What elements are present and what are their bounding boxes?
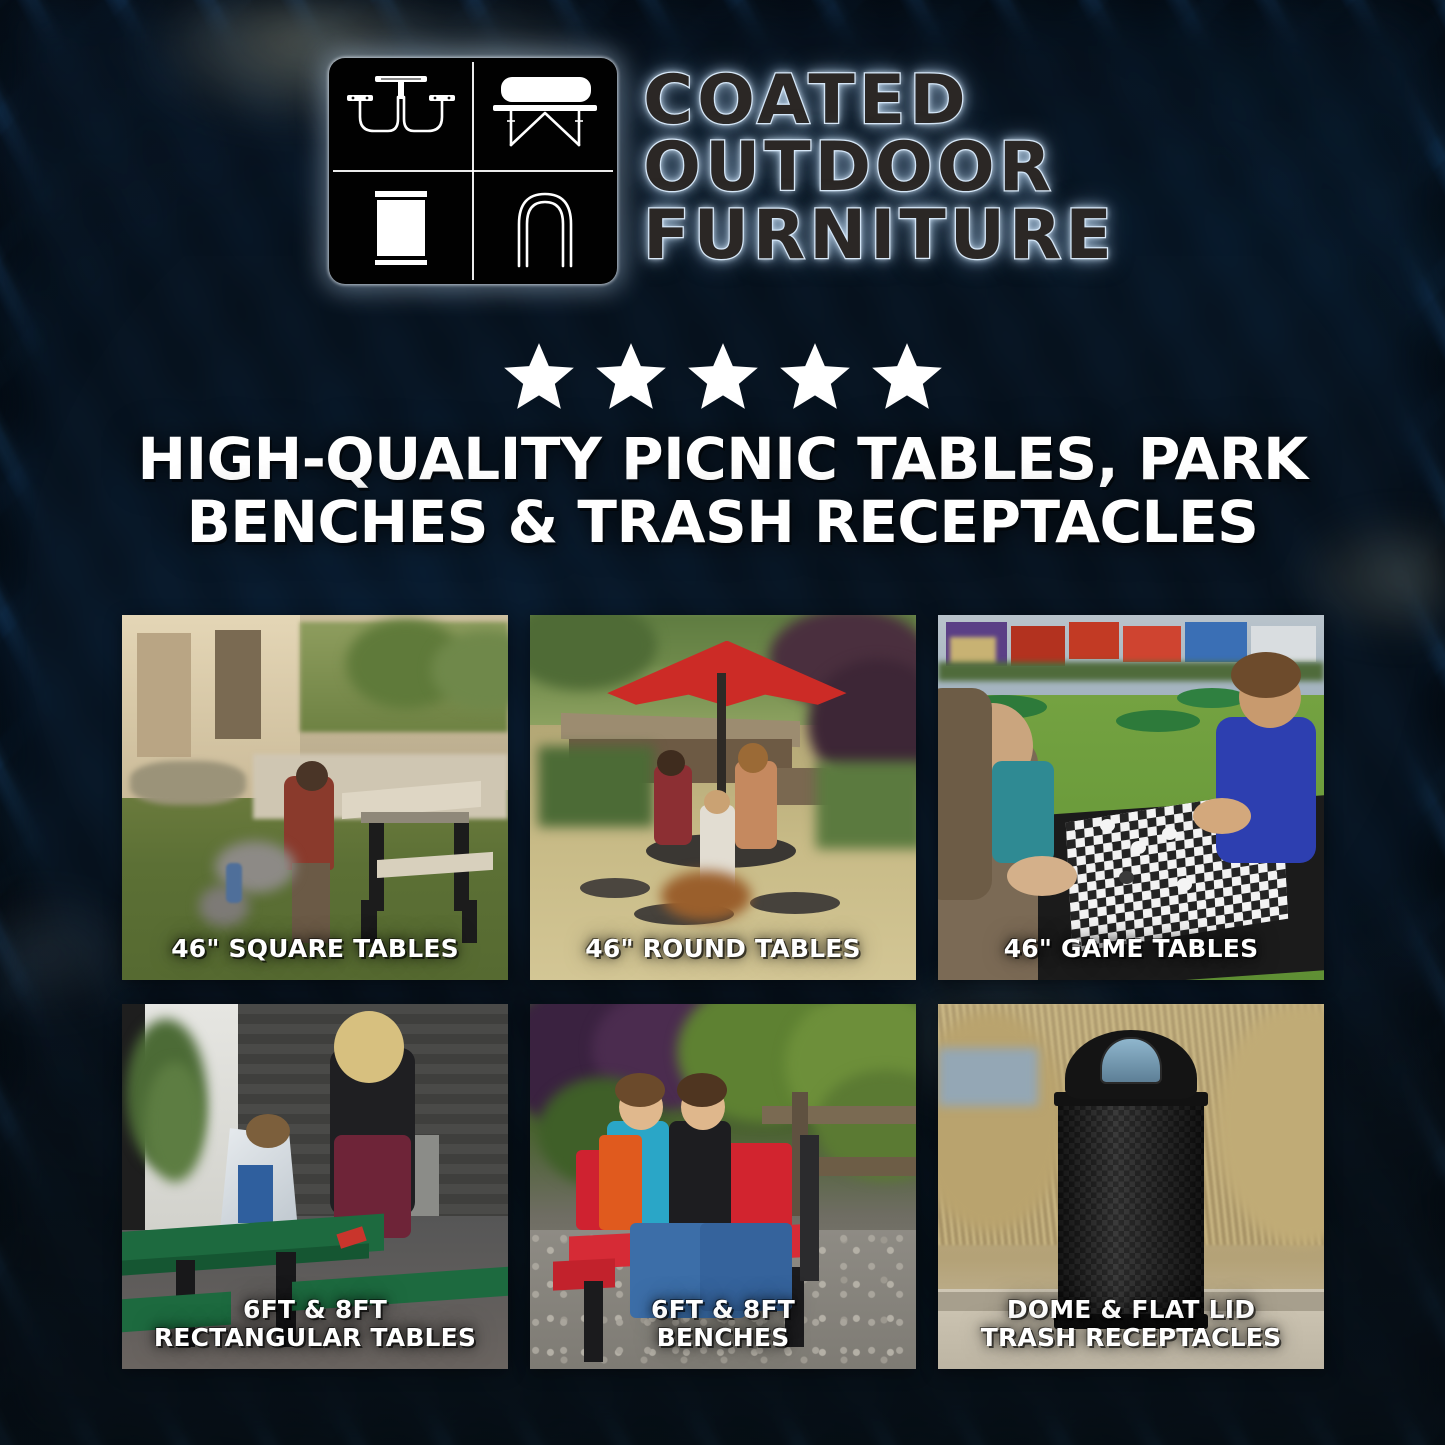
product-caption: DOME & FLAT LID TRASH RECEPTACLES — [938, 1296, 1324, 1351]
star-icon — [500, 338, 578, 414]
brand-name-line-2: OUTDOOR — [643, 135, 1116, 200]
product-card-round-tables[interactable]: 46" ROUND TABLES — [530, 615, 916, 980]
product-caption-line-2: RECTANGULAR TABLES — [130, 1324, 500, 1352]
product-card-benches[interactable]: 6FT & 8FT BENCHES — [530, 1004, 916, 1369]
product-caption-line-1: 6FT & 8FT — [243, 1295, 387, 1324]
brand-logo: COATED OUTDOOR FURNITURE — [0, 58, 1445, 284]
product-caption-line-1: 46" ROUND TABLES — [585, 934, 860, 963]
brand-name-line-1: COATED — [643, 68, 1116, 133]
star-icon — [592, 338, 670, 414]
product-caption: 46" ROUND TABLES — [530, 935, 916, 963]
brand-name-line-3: FURNITURE — [643, 203, 1116, 268]
star-icon — [868, 338, 946, 414]
product-caption: 6FT & 8FT RECTANGULAR TABLES — [122, 1296, 508, 1351]
headline-line-2: BENCHES & TRASH RECEPTACLES — [70, 491, 1375, 554]
product-caption-line-1: 46" GAME TABLES — [1004, 934, 1259, 963]
product-caption-line-1: 46" SQUARE TABLES — [171, 934, 459, 963]
headline-line-1: HIGH-QUALITY PICNIC TABLES, PARK — [70, 428, 1375, 491]
logo-mark-icon — [329, 58, 617, 284]
product-card-rectangular-tables[interactable]: 6FT & 8FT RECTANGULAR TABLES — [122, 1004, 508, 1369]
headline: HIGH-QUALITY PICNIC TABLES, PARK BENCHES… — [0, 428, 1445, 553]
picnic-table-icon — [329, 58, 473, 171]
product-photo-square-tables — [122, 615, 508, 980]
brand-wordmark: COATED OUTDOOR FURNITURE — [643, 68, 1116, 274]
product-card-trash-receptacles[interactable]: DOME & FLAT LID TRASH RECEPTACLES — [938, 1004, 1324, 1369]
bike-rack-arch-icon — [473, 171, 617, 284]
trash-receptacle-icon — [329, 171, 473, 284]
star-rating — [0, 338, 1445, 414]
product-caption-line-1: 6FT & 8FT — [651, 1295, 795, 1324]
product-caption: 46" SQUARE TABLES — [122, 935, 508, 963]
bench-table-icon — [473, 58, 617, 171]
star-icon — [776, 338, 854, 414]
product-photo-game-tables — [938, 615, 1324, 980]
product-photo-round-tables — [530, 615, 916, 980]
product-caption-line-1: DOME & FLAT LID — [1007, 1295, 1255, 1324]
product-caption-line-2: BENCHES — [538, 1324, 908, 1352]
product-card-game-tables[interactable]: 46" GAME TABLES — [938, 615, 1324, 980]
product-caption: 6FT & 8FT BENCHES — [530, 1296, 916, 1351]
product-grid: 46" SQUARE TABLES — [122, 615, 1324, 1369]
star-icon — [684, 338, 762, 414]
product-caption: 46" GAME TABLES — [938, 935, 1324, 963]
product-caption-line-2: TRASH RECEPTACLES — [946, 1324, 1316, 1352]
product-card-square-tables[interactable]: 46" SQUARE TABLES — [122, 615, 508, 980]
